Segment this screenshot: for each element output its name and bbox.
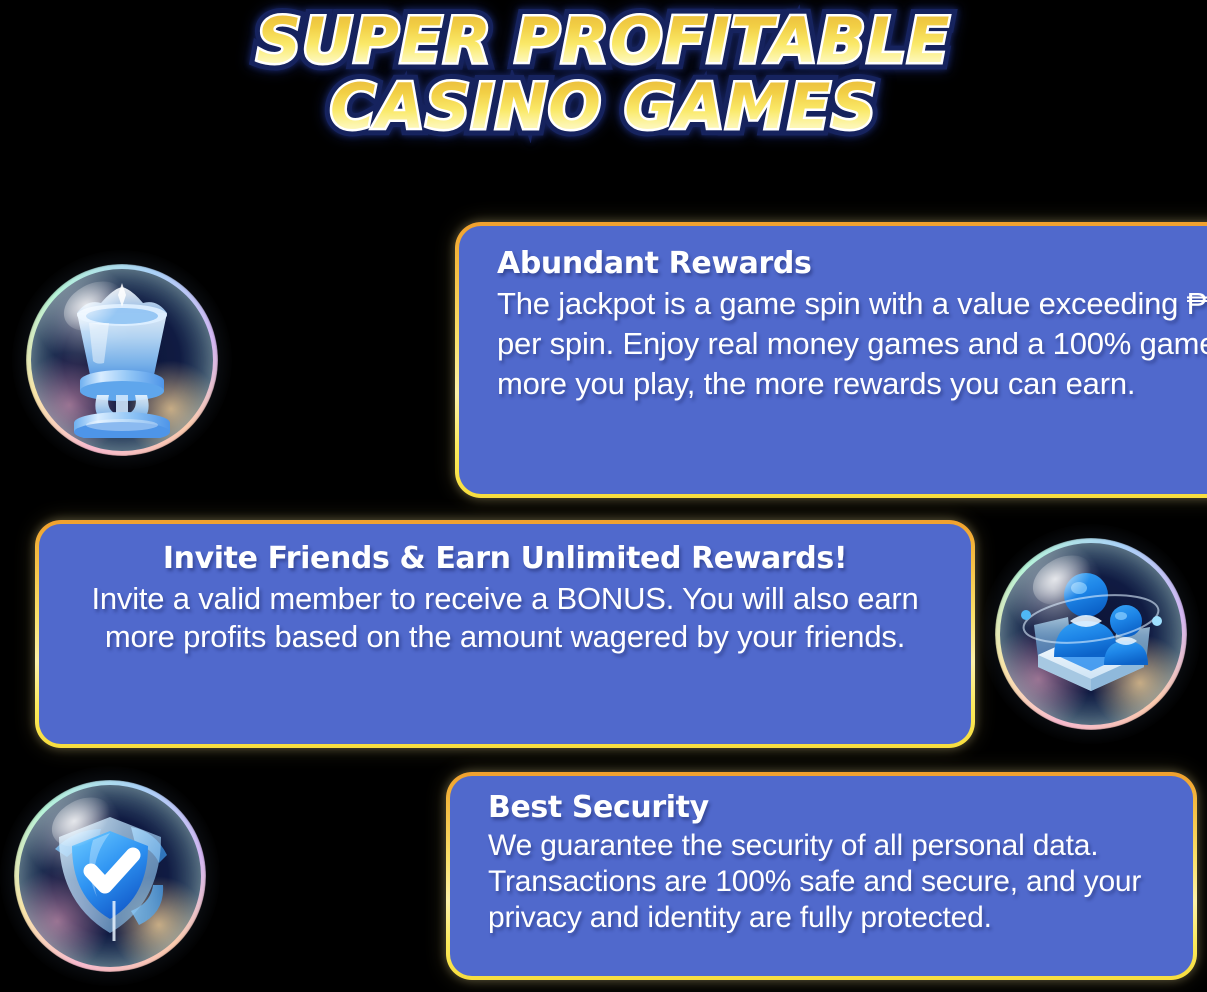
title-line-1: SUPER PROFITABLE <box>0 8 1207 74</box>
title-line-1-row: SUPER PROFITABLE SUPER PROFITABLE SUPER … <box>0 8 1207 74</box>
people-bubble-icon <box>991 534 1191 734</box>
title-line-2-row: CASINO GAMES CASINO GAMES CASINO GAMES <box>0 74 1207 140</box>
feature-row-abundant-rewards: Abundant Rewards The jackpot is a game s… <box>0 222 1197 498</box>
feature-row-invite-friends: Invite Friends & Earn Unlimited Rewards!… <box>0 520 1197 748</box>
card-body-best-security: We guarantee the security of all persona… <box>488 828 1167 936</box>
card-body-invite-friends: Invite a valid member to receive a BONUS… <box>69 580 941 656</box>
card-title-best-security: Best Security <box>488 788 1167 828</box>
card-body-abundant-rewards: The jackpot is a game spin with a value … <box>497 284 1207 404</box>
shield-check-bubble-icon <box>10 776 210 976</box>
card-title-abundant-rewards: Abundant Rewards <box>497 244 1207 284</box>
card-inner: Best Security We guarantee the security … <box>450 776 1193 976</box>
card-best-security[interactable]: Best Security We guarantee the security … <box>446 772 1197 980</box>
trophy-bubble-icon <box>22 260 222 460</box>
card-abundant-rewards[interactable]: Abundant Rewards The jackpot is a game s… <box>455 222 1207 498</box>
card-inner: Invite Friends & Earn Unlimited Rewards!… <box>39 524 971 744</box>
title-line-2: CASINO GAMES <box>0 74 1207 140</box>
feature-row-best-security: Best Security We guarantee the security … <box>0 772 1197 980</box>
card-inner: Abundant Rewards The jackpot is a game s… <box>459 226 1207 494</box>
card-invite-friends[interactable]: Invite Friends & Earn Unlimited Rewards!… <box>35 520 975 748</box>
page-title: SUPER PROFITABLE SUPER PROFITABLE SUPER … <box>0 8 1207 140</box>
card-title-invite-friends: Invite Friends & Earn Unlimited Rewards! <box>69 538 941 580</box>
